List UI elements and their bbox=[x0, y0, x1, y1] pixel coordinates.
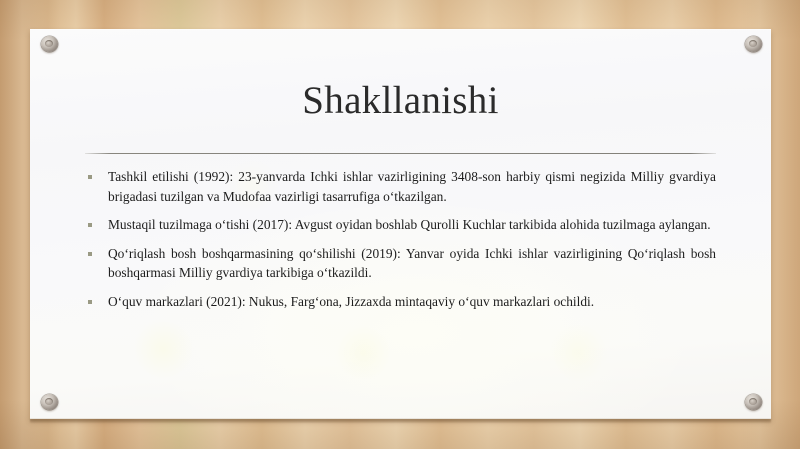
screw-icon-bottom-right bbox=[745, 394, 762, 410]
bullet-text: Mustaqil tuzilmaga o‘tishi (2017): Avgus… bbox=[108, 215, 716, 235]
list-item: Mustaqil tuzilmaga o‘tishi (2017): Avgus… bbox=[88, 215, 716, 235]
bullet-square-icon bbox=[88, 223, 92, 227]
slide-panel-shadow bbox=[30, 419, 771, 423]
bullet-list: Tashkil etilishi (1992): 23-yanvarda Ich… bbox=[88, 167, 716, 320]
list-item: Tashkil etilishi (1992): 23-yanvarda Ich… bbox=[88, 167, 716, 206]
bullet-square-icon bbox=[88, 252, 92, 256]
slide-title: Shakllanishi bbox=[30, 78, 771, 123]
bullet-text: Qo‘riqlash bosh boshqarmasining qo‘shili… bbox=[108, 244, 716, 283]
screw-icon-top-right bbox=[745, 36, 762, 52]
screw-icon-bottom-left bbox=[41, 394, 58, 410]
bullet-text: O‘quv markazlari (2021): Nukus, Farg‘ona… bbox=[108, 292, 716, 312]
bullet-square-icon bbox=[88, 300, 92, 304]
title-divider bbox=[85, 153, 716, 154]
screw-icon-top-left bbox=[41, 36, 58, 52]
list-item: Qo‘riqlash bosh boshqarmasining qo‘shili… bbox=[88, 244, 716, 283]
list-item: O‘quv markazlari (2021): Nukus, Farg‘ona… bbox=[88, 292, 716, 312]
bullet-text: Tashkil etilishi (1992): 23-yanvarda Ich… bbox=[108, 167, 716, 206]
bullet-square-icon bbox=[88, 175, 92, 179]
